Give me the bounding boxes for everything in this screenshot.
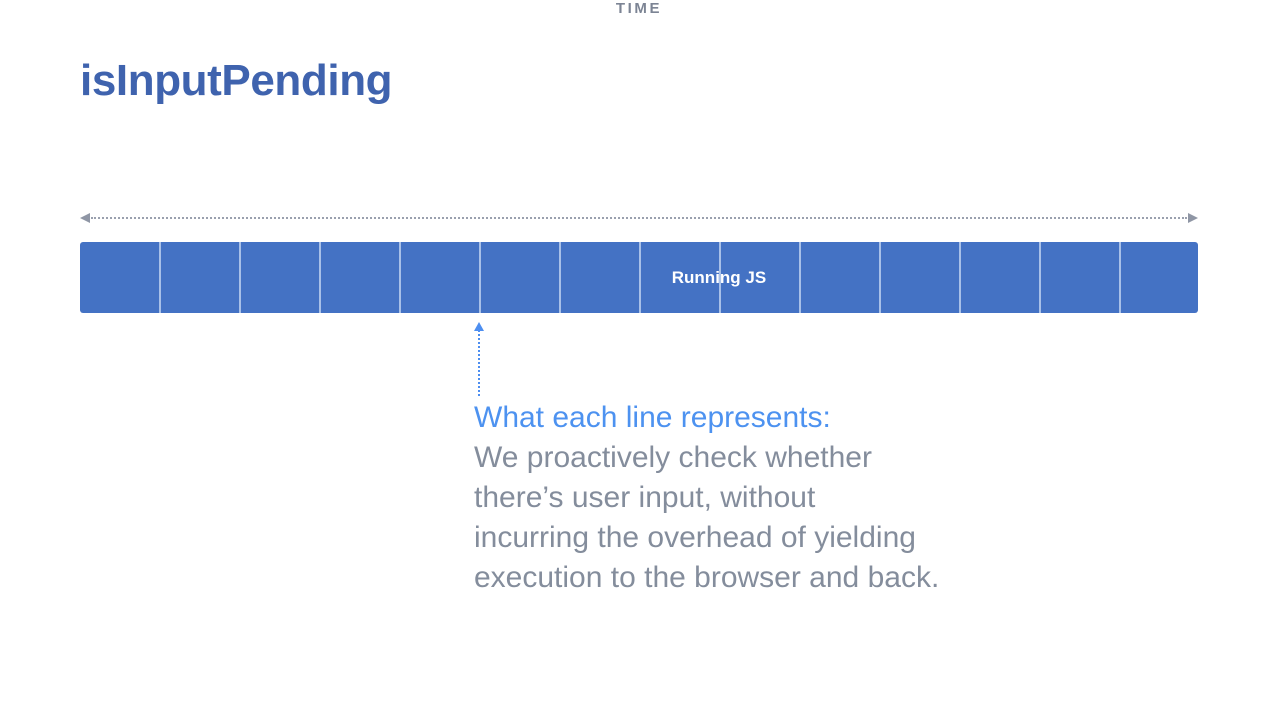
callout-body-line: incurring the overhead of yielding bbox=[474, 518, 994, 558]
timeline-divider bbox=[159, 242, 161, 313]
running-js-label: Running JS bbox=[639, 242, 799, 313]
time-axis-label: TIME bbox=[80, 0, 1198, 17]
arrow-right-icon bbox=[1188, 213, 1198, 223]
callout-connector bbox=[473, 322, 485, 396]
time-axis-line bbox=[91, 217, 1187, 219]
timeline-divider bbox=[959, 242, 961, 313]
timeline-divider bbox=[399, 242, 401, 313]
callout-body-line: We proactively check whether bbox=[474, 438, 994, 478]
slide-canvas: isInputPending TIME Running JS What each… bbox=[0, 0, 1276, 717]
timeline-divider bbox=[1039, 242, 1041, 313]
timeline-divider bbox=[799, 242, 801, 313]
timeline-divider bbox=[479, 242, 481, 313]
arrow-left-icon bbox=[80, 213, 90, 223]
page-title: isInputPending bbox=[80, 57, 392, 105]
callout-body: We proactively check whetherthere’s user… bbox=[474, 438, 994, 598]
timeline-divider bbox=[879, 242, 881, 313]
callout-body-line: execution to the browser and back. bbox=[474, 558, 994, 598]
callout-connector-line bbox=[478, 330, 480, 396]
timeline-bar: Running JS bbox=[80, 242, 1198, 313]
timeline-divider bbox=[319, 242, 321, 313]
callout-text-block: What each line represents: We proactivel… bbox=[474, 398, 994, 598]
timeline-divider bbox=[239, 242, 241, 313]
callout-body-line: there’s user input, without bbox=[474, 478, 994, 518]
timeline-divider bbox=[559, 242, 561, 313]
callout-heading: What each line represents: bbox=[474, 398, 994, 438]
time-axis bbox=[80, 212, 1198, 226]
timeline-divider bbox=[1119, 242, 1121, 313]
